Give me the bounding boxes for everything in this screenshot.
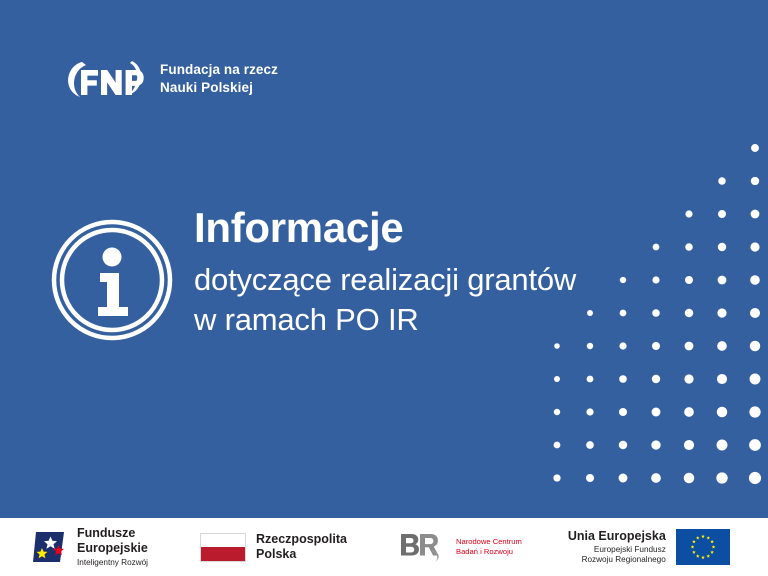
ncbr-logo-name: Narodowe Centrum Badań i Rozwoju bbox=[456, 537, 522, 558]
fnp-wordmark: Fundacja na rzecz Nauki Polskiej bbox=[160, 61, 278, 97]
fe-logo-name: Fundusze Europejskie bbox=[77, 526, 148, 556]
flag-white-band bbox=[201, 534, 245, 548]
fnp-logo: Fundacja na rzecz Nauki Polskiej bbox=[60, 56, 278, 102]
information-icon bbox=[48, 216, 176, 344]
fnp-logo-mark bbox=[60, 56, 146, 102]
flag-red-band bbox=[201, 547, 245, 561]
rp-logo-name: Rzeczpospolita Polska bbox=[256, 532, 347, 562]
ncbr-br-monogram-icon bbox=[395, 529, 447, 565]
logo-unia-europejska: Unia Europejska Europejski Fundusz Rozwo… bbox=[568, 518, 730, 576]
headline-block: Informacje dotyczące realizacji grantów … bbox=[194, 206, 624, 339]
page-title: Informacje bbox=[194, 206, 624, 250]
eu-fund-name: Europejski Fundusz Rozwoju Regionalnego bbox=[568, 545, 666, 565]
footer-logo-bar: Fundusze Europejskie Inteligentny Rozwój… bbox=[0, 518, 768, 576]
page-subtitle: dotyczące realizacji grantów w ramach PO… bbox=[194, 260, 624, 339]
logo-rzeczpospolita-polska: Rzeczpospolita Polska bbox=[200, 518, 347, 576]
logo-fundusze-europejskie: Fundusze Europejskie Inteligentny Rozwój bbox=[30, 518, 148, 576]
logo-ncbr: Narodowe Centrum Badań i Rozwoju bbox=[395, 518, 522, 576]
eu-logo-name: Unia Europejska bbox=[568, 529, 666, 544]
fe-programme-name: Inteligentny Rozwój bbox=[77, 558, 148, 568]
fe-stars-mark bbox=[30, 528, 68, 566]
eu-flag-icon bbox=[676, 529, 730, 565]
polish-flag-icon bbox=[200, 533, 246, 562]
slide-canvas: Fundacja na rzecz Nauki Polskiej Informa… bbox=[0, 0, 768, 576]
